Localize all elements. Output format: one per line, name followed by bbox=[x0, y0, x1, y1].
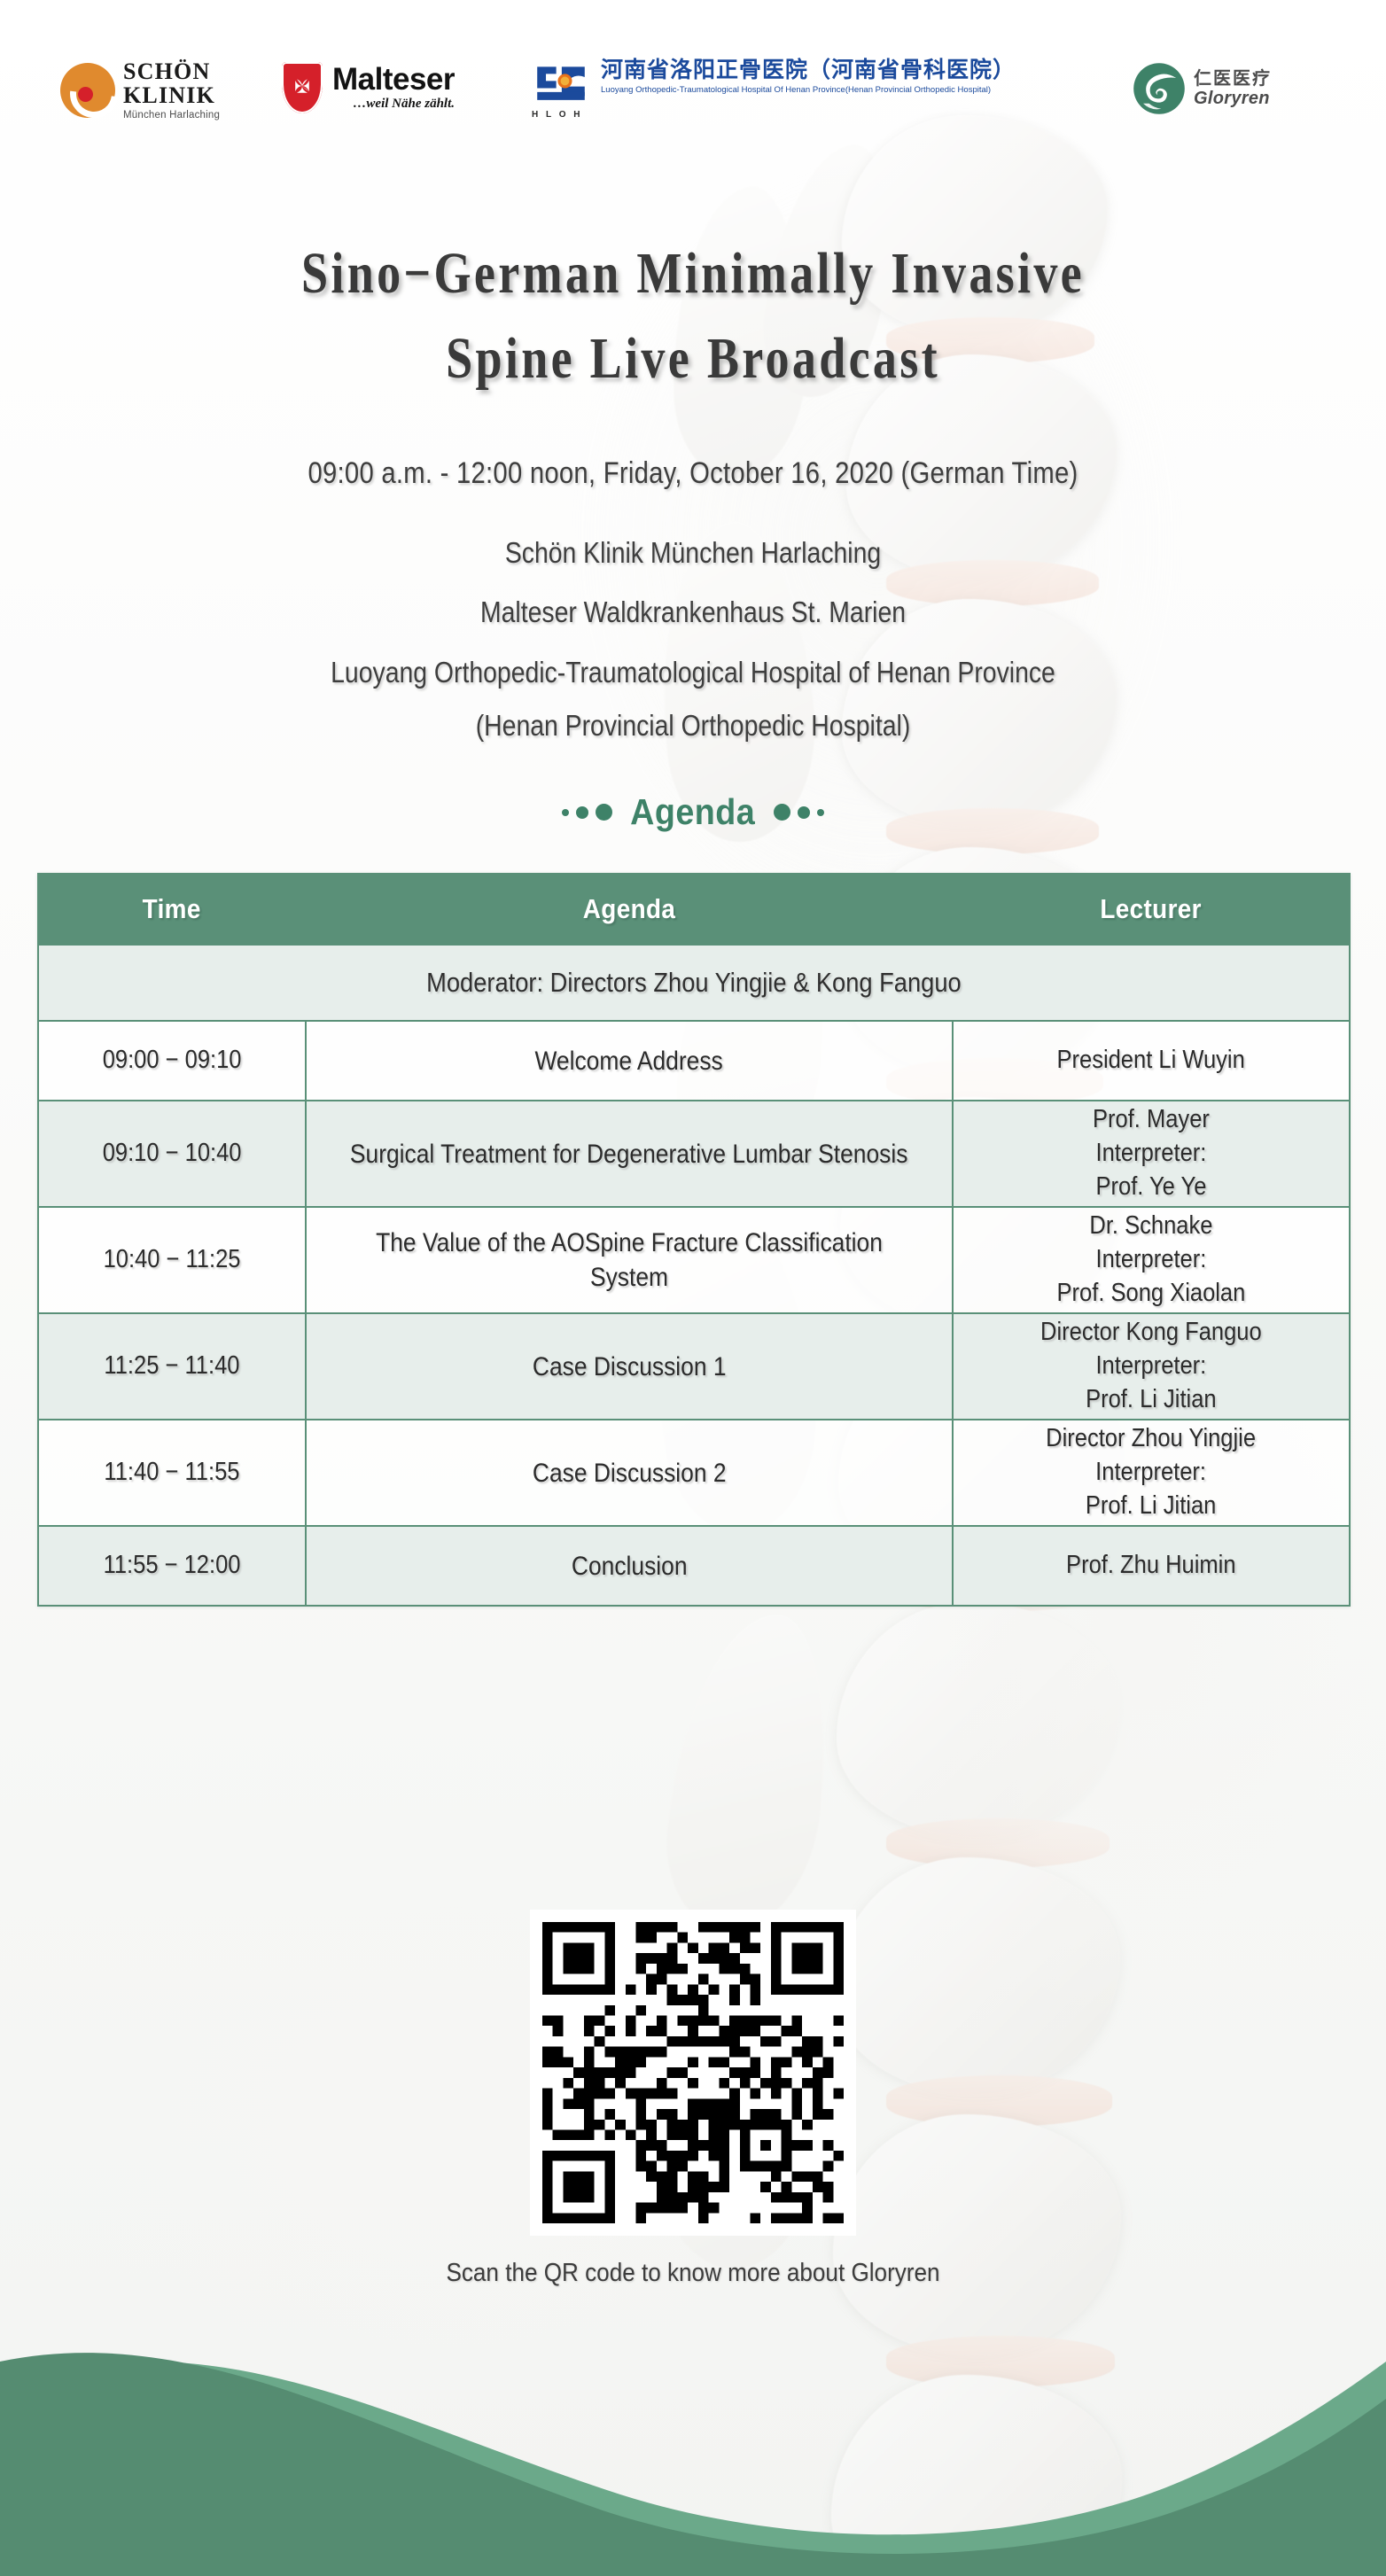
cell-agenda: The Value of the AOSpine Fracture Classi… bbox=[306, 1207, 953, 1313]
venue-line-4: (Henan Provincial Orthopedic Hospital) bbox=[97, 709, 1289, 743]
luoyang-hospital-en: Luoyang Orthopedic-Traumatological Hospi… bbox=[601, 85, 1016, 95]
cell-lecturer: President Li Wuyin bbox=[953, 1021, 1350, 1101]
luoyang-hospital-cn: 河南省洛阳正骨医院（河南省骨科医院） bbox=[601, 58, 1016, 83]
cell-agenda: Welcome Address bbox=[306, 1021, 953, 1101]
venue-line-3: Luoyang Orthopedic-Traumatological Hospi… bbox=[97, 656, 1289, 689]
qr-code bbox=[530, 1910, 856, 2236]
cell-time: 09:10 − 10:40 bbox=[38, 1101, 306, 1207]
venue-line-1: Schön Klinik München Harlaching bbox=[97, 536, 1289, 570]
table-row: 11:55 − 12:00ConclusionProf. Zhu Huimin bbox=[38, 1526, 1350, 1606]
schon-klinik-line2: KLINIK bbox=[123, 84, 220, 108]
schon-klinik-sub: München Harlaching bbox=[123, 110, 220, 121]
cell-agenda: Case Discussion 2 bbox=[306, 1420, 953, 1526]
cell-lecturer: Prof. Zhu Huimin bbox=[953, 1526, 1350, 1606]
cell-lecturer: Director Kong FanguoInterpreter:Prof. Li… bbox=[953, 1313, 1350, 1420]
agenda-heading: Agenda bbox=[0, 791, 1386, 833]
logo-luoyang-hospital: H L O H 河南省洛阳正骨医院（河南省骨科医院） Luoyang Ortho… bbox=[530, 58, 1016, 119]
cell-time: 09:00 − 09:10 bbox=[38, 1021, 306, 1101]
footer-wave-decoration bbox=[0, 2257, 1386, 2576]
agenda-dots-right bbox=[774, 804, 824, 821]
wave-dark-shape bbox=[0, 2353, 1386, 2576]
page-title-line-1: Sino−German Minimally Invasive bbox=[125, 239, 1261, 308]
page-title-line-2: Spine Live Broadcast bbox=[125, 324, 1261, 393]
dot-icon bbox=[817, 809, 824, 816]
agenda-table-container: Time Agenda Lecturer Moderator: Director… bbox=[37, 873, 1349, 1607]
logo-bar: SCHÖN KLINIK München Harlaching Malteser… bbox=[0, 46, 1386, 144]
luoyang-hospital-abbr: H L O H bbox=[532, 110, 582, 120]
agenda-table-head: Time Agenda Lecturer bbox=[38, 874, 1350, 945]
agenda-dots-left bbox=[562, 804, 612, 821]
cell-agenda: Case Discussion 1 bbox=[306, 1313, 953, 1420]
moderator-cell: Moderator: Directors Zhou Yingjie & Kong… bbox=[38, 945, 1350, 1021]
luoyang-hospital-mark-icon: H L O H bbox=[530, 62, 592, 119]
cell-time: 11:55 − 12:00 bbox=[38, 1526, 306, 1606]
dot-icon bbox=[798, 806, 810, 819]
gloryren-swirl-icon bbox=[1133, 62, 1186, 115]
cell-lecturer: Prof. MayerInterpreter:Prof. Ye Ye bbox=[953, 1101, 1350, 1207]
gloryren-en: Gloryren bbox=[1194, 89, 1272, 109]
moderator-row: Moderator: Directors Zhou Yingjie & Kong… bbox=[38, 945, 1350, 1021]
cell-agenda: Conclusion bbox=[306, 1526, 953, 1606]
dot-icon bbox=[596, 804, 612, 821]
cell-time: 10:40 − 11:25 bbox=[38, 1207, 306, 1313]
venue-line-2: Malteser Waldkrankenhaus St. Marien bbox=[97, 595, 1289, 629]
dot-icon bbox=[774, 804, 790, 821]
gloryren-cn: 仁医医疗 bbox=[1194, 69, 1272, 89]
dot-icon bbox=[576, 806, 588, 819]
table-header-row: Time Agenda Lecturer bbox=[38, 874, 1350, 945]
agenda-table-body: 09:00 − 09:10Welcome AddressPresident Li… bbox=[38, 1021, 1350, 1606]
column-header-time: Time bbox=[38, 874, 306, 945]
event-datetime: 09:00 a.m. - 12:00 noon, Friday, October… bbox=[97, 456, 1289, 491]
agenda-table: Time Agenda Lecturer Moderator: Director… bbox=[37, 873, 1351, 1607]
malteser-tagline: …weil Nähe zählt. bbox=[332, 97, 455, 112]
table-row: 11:40 − 11:55Case Discussion 2Director Z… bbox=[38, 1420, 1350, 1526]
cell-lecturer: Dr. SchnakeInterpreter:Prof. Song Xiaola… bbox=[953, 1207, 1350, 1313]
agenda-heading-label: Agenda bbox=[630, 791, 755, 833]
logo-schon-klinik: SCHÖN KLINIK München Harlaching bbox=[60, 60, 220, 121]
cell-time: 11:40 − 11:55 bbox=[38, 1420, 306, 1526]
malteser-shield-icon bbox=[282, 62, 323, 113]
table-row: 10:40 − 11:25The Value of the AOSpine Fr… bbox=[38, 1207, 1350, 1313]
schon-klinik-mark-icon bbox=[60, 63, 115, 118]
table-row: 11:25 − 11:40Case Discussion 1Director K… bbox=[38, 1313, 1350, 1420]
logo-gloryren: 仁医医疗 Gloryren bbox=[1133, 62, 1272, 115]
agenda-table-moderator: Moderator: Directors Zhou Yingjie & Kong… bbox=[38, 945, 1350, 1021]
logo-malteser: Malteser …weil Nähe zählt. bbox=[282, 62, 455, 113]
malteser-wordmark: Malteser bbox=[332, 64, 455, 95]
column-header-agenda: Agenda bbox=[306, 874, 953, 945]
cell-time: 11:25 − 11:40 bbox=[38, 1313, 306, 1420]
schon-klinik-line1: SCHÖN bbox=[123, 60, 220, 84]
table-row: 09:00 − 09:10Welcome AddressPresident Li… bbox=[38, 1021, 1350, 1101]
table-row: 09:10 − 10:40Surgical Treatment for Dege… bbox=[38, 1101, 1350, 1207]
column-header-lecturer: Lecturer bbox=[953, 874, 1350, 945]
cell-agenda: Surgical Treatment for Degenerative Lumb… bbox=[306, 1101, 953, 1207]
dot-icon bbox=[562, 809, 569, 816]
cell-lecturer: Director Zhou YingjieInterpreter:Prof. L… bbox=[953, 1420, 1350, 1526]
